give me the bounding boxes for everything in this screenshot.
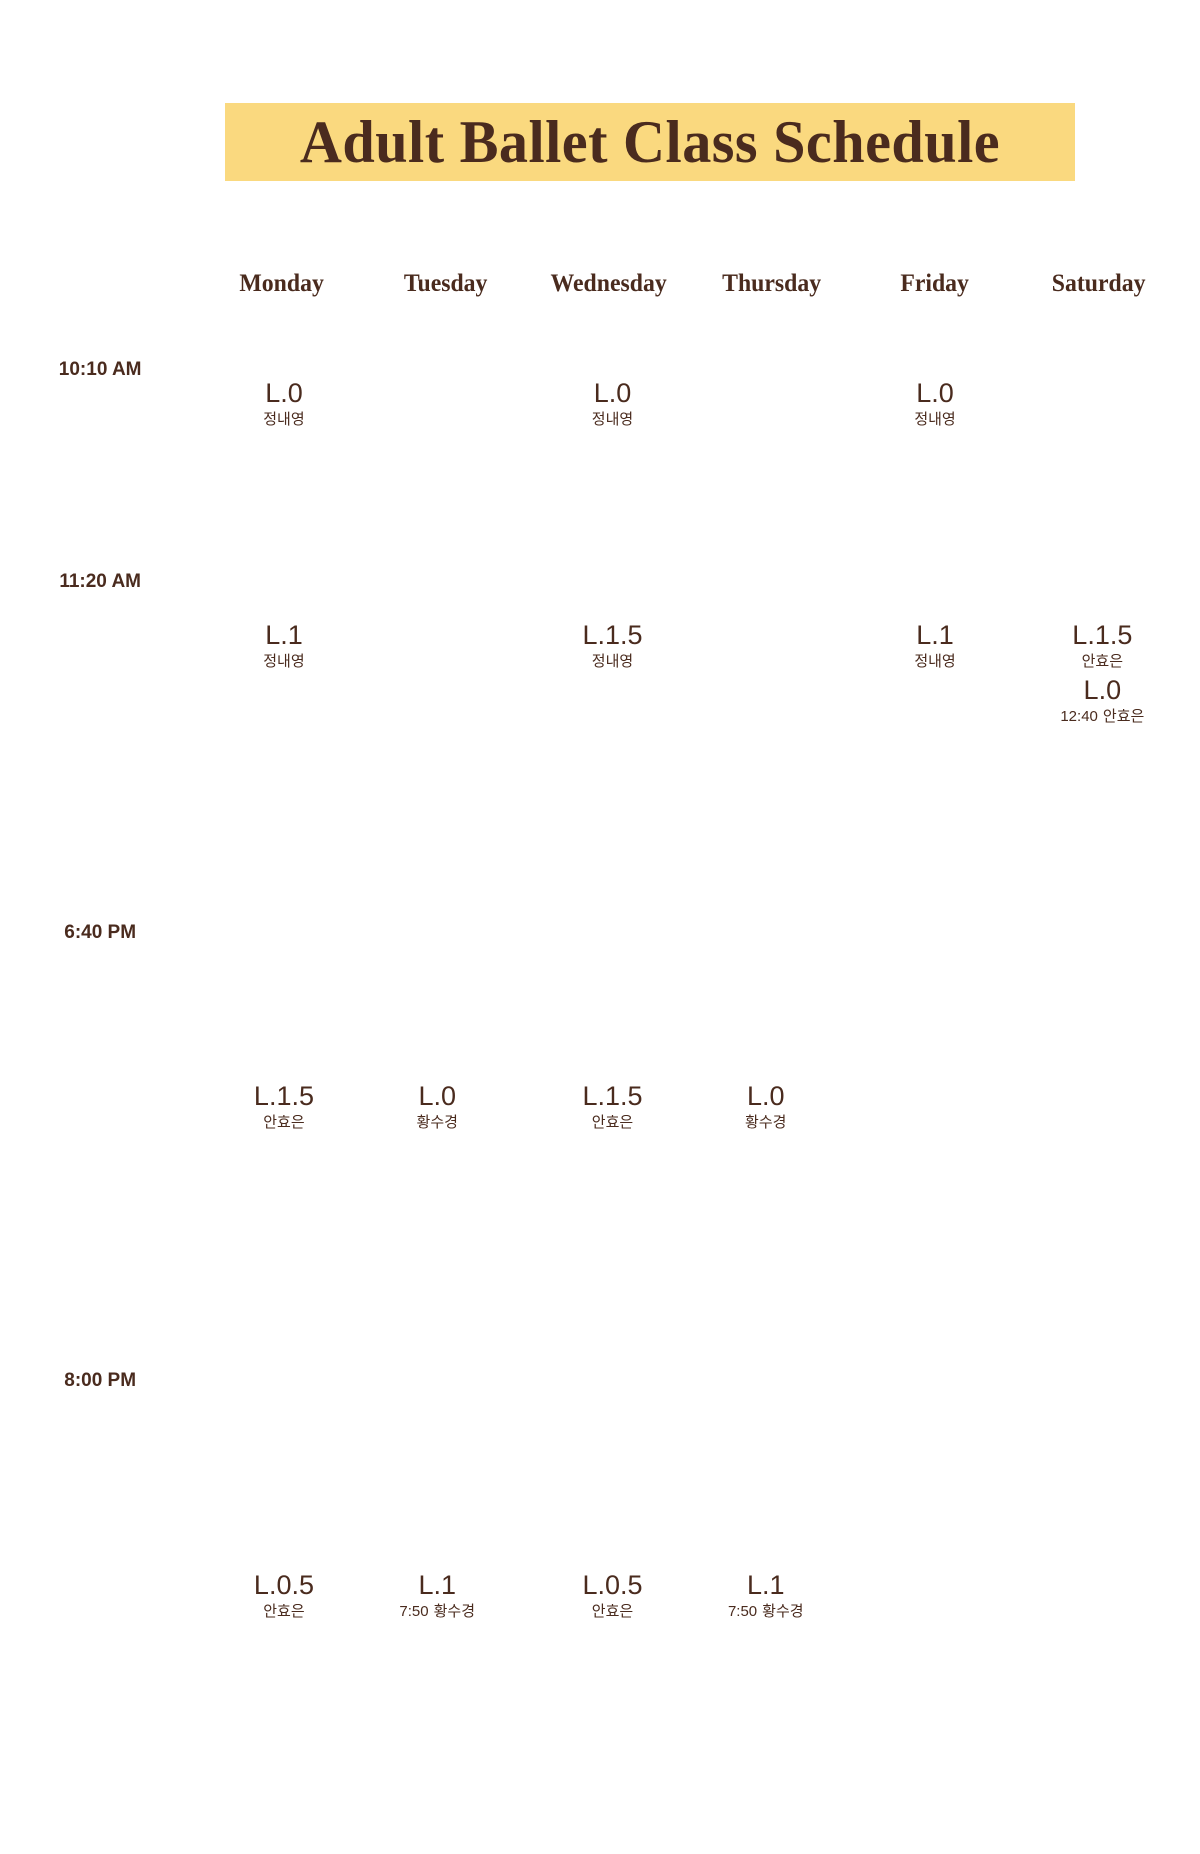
class-meta: 안효은 (202, 1112, 365, 1135)
cell-content: L.17:50황수경 (356, 1136, 519, 1624)
class-instructor: 안효은 (263, 1114, 304, 1131)
class-entry[interactable]: L.0.5안효은 (531, 1570, 694, 1624)
cell-content (1021, 731, 1184, 1081)
schedule-cell: L.1.5황수경 (364, 1626, 527, 1854)
day-header-saturday: Saturday (1021, 270, 1176, 306)
schedule-cell: L.2안효은 (527, 1626, 690, 1854)
cell-content (1021, 1626, 1184, 1854)
time-label: 10:10 AM (0, 306, 200, 434)
day-header-wednesday: Wednesday (531, 270, 686, 306)
class-entry[interactable]: L.17:50황수경 (684, 1570, 847, 1624)
class-instructor: 정내영 (592, 653, 633, 670)
class-level: L.1 (853, 620, 1016, 651)
cell-content: L.1.5안효은L.012:40안효은 (1021, 434, 1184, 729)
day-header-tuesday: Tuesday (368, 270, 523, 306)
cell-content: L.2안효은 (202, 1626, 365, 1854)
cell-content: L.1.5정내영 (531, 434, 694, 674)
class-instructor: 안효은 (592, 1603, 633, 1620)
schedule-cell (853, 731, 1016, 1137)
cell-content: L.2안효은 (531, 1626, 694, 1854)
cell-content: L.17:50황수경 (684, 1136, 847, 1624)
cell-content (1021, 306, 1184, 378)
class-start-time: 12:40 (1060, 708, 1098, 725)
cell-content (853, 1626, 1016, 1854)
time-label: 6:40 PM (0, 731, 200, 1137)
cell-content (356, 434, 519, 620)
schedule-cell: L.0정내영 (527, 306, 690, 434)
schedule-cell: L.1.5안효은 (200, 731, 363, 1137)
class-start-time: 7:50 (399, 1603, 428, 1620)
class-entry[interactable]: L.012:40안효은 (1021, 675, 1184, 729)
schedule-row: 9:10 PML.2안효은L.1.5황수경L.2안효은L.1.5황수경 (0, 1626, 1180, 1854)
cell-content: L.1.5황수경 (684, 1626, 847, 1854)
schedule-body: 10:10 AML.0정내영L.0정내영L.0정내영11:20 AML.1정내영… (0, 306, 1180, 1854)
schedule-cell (690, 306, 853, 434)
class-instructor: 안효은 (1103, 708, 1144, 725)
schedule-row: 10:10 AML.0정내영L.0정내영L.0정내영 (0, 306, 1180, 434)
class-entry[interactable]: L.1.5안효은 (202, 1081, 365, 1135)
cell-content (684, 306, 847, 378)
class-meta: 안효은 (531, 1112, 694, 1135)
class-level: L.0 (853, 378, 1016, 409)
cell-content (356, 306, 519, 378)
schedule-cell (1017, 1136, 1180, 1626)
schedule-cell: L.0황수경 (690, 731, 853, 1137)
class-entry[interactable]: L.1.5정내영 (531, 620, 694, 674)
title-banner: Adult Ballet Class Schedule (225, 103, 1075, 181)
cell-content: L.0.5안효은 (202, 1136, 365, 1624)
class-meta: 황수경 (356, 1112, 519, 1135)
cell-content: L.1정내영 (853, 434, 1016, 674)
class-level: L.1.5 (202, 1081, 365, 1112)
class-level: L.1.5 (1021, 620, 1184, 651)
class-instructor: 황수경 (745, 1114, 786, 1131)
schedule-cell: L.1.5안효은L.012:40안효은 (1017, 434, 1180, 731)
cell-content: L.0황수경 (684, 731, 847, 1135)
class-entry[interactable]: L.0황수경 (684, 1081, 847, 1135)
class-level: L.1 (356, 1570, 519, 1601)
schedule-row: 6:40 PML.1.5안효은L.0황수경L.1.5안효은L.0황수경 (0, 731, 1180, 1137)
class-level: L.0 (531, 378, 694, 409)
class-level: L.1.5 (531, 1081, 694, 1112)
cell-content: L.1.5황수경 (356, 1626, 519, 1854)
schedule-cell: L.1정내영 (200, 434, 363, 731)
class-entry[interactable]: L.1정내영 (853, 620, 1016, 674)
class-level: L.1 (684, 1570, 847, 1601)
time-column-header (0, 270, 200, 306)
class-entry[interactable]: L.1.5안효은 (1021, 620, 1184, 674)
class-meta: 정내영 (853, 409, 1016, 432)
schedule-cell: L.0정내영 (200, 306, 363, 434)
class-meta: 안효은 (202, 1601, 365, 1624)
class-instructor: 황수경 (417, 1114, 458, 1131)
schedule-cell: L.1.5안효은 (527, 731, 690, 1137)
schedule-cell: L.0황수경 (364, 731, 527, 1137)
class-start-time: 7:50 (728, 1603, 757, 1620)
time-label: 8:00 PM (0, 1136, 200, 1626)
class-entry[interactable]: L.0정내영 (202, 378, 365, 432)
cell-content: L.1.5안효은 (202, 731, 365, 1135)
class-instructor: 정내영 (592, 411, 633, 428)
cell-content: L.1정내영 (202, 434, 365, 674)
class-instructor: 정내영 (263, 411, 304, 428)
class-instructor: 안효은 (1082, 653, 1123, 670)
cell-content (853, 731, 1016, 1081)
schedule-cell (690, 434, 853, 731)
cell-content: L.1.5안효은 (531, 731, 694, 1135)
schedule-cell: L.0정내영 (853, 306, 1016, 434)
class-entry[interactable]: L.1정내영 (202, 620, 365, 674)
schedule-head: MondayTuesdayWednesdayThursdayFridaySatu… (0, 270, 1180, 306)
class-instructor: 정내영 (263, 653, 304, 670)
class-meta: 정내영 (202, 409, 365, 432)
schedule-row: 8:00 PML.0.5안효은L.17:50황수경L.0.5안효은L.17:50… (0, 1136, 1180, 1626)
schedule-cell: L.1.5황수경 (690, 1626, 853, 1854)
cell-content: L.0정내영 (853, 306, 1016, 432)
schedule-cell: L.17:50황수경 (690, 1136, 853, 1626)
class-meta: 정내영 (531, 409, 694, 432)
cell-content (684, 434, 847, 620)
class-meta: 정내영 (202, 651, 365, 674)
class-level: L.0 (1021, 675, 1184, 706)
class-entry[interactable]: L.0.5안효은 (202, 1570, 365, 1624)
class-meta: 안효은 (531, 1601, 694, 1624)
schedule-cell (853, 1626, 1016, 1854)
class-instructor: 황수경 (434, 1603, 475, 1620)
class-level: L.0.5 (531, 1570, 694, 1601)
cell-content: L.0정내영 (531, 306, 694, 432)
cell-content (1021, 1136, 1184, 1570)
class-meta: 황수경 (684, 1112, 847, 1135)
class-level: L.0 (356, 1081, 519, 1112)
time-label: 9:10 PM (0, 1626, 200, 1854)
schedule-cell (853, 1136, 1016, 1626)
schedule-cell: L.1정내영 (853, 434, 1016, 731)
time-label: 11:20 AM (0, 434, 200, 731)
class-level: L.1 (202, 620, 365, 651)
class-entry[interactable]: L.0정내영 (853, 378, 1016, 432)
schedule-cell (1017, 306, 1180, 434)
class-meta: 12:40안효은 (1021, 706, 1184, 729)
schedule-cell (1017, 731, 1180, 1137)
class-instructor: 정내영 (914, 653, 955, 670)
schedule-table-wrapper: MondayTuesdayWednesdayThursdayFridaySatu… (0, 270, 1200, 1854)
cell-content (853, 1136, 1016, 1570)
cell-content: L.0.5안효은 (531, 1136, 694, 1624)
class-meta: 안효은 (1021, 651, 1184, 674)
day-header-friday: Friday (857, 270, 1012, 306)
class-entry[interactable]: L.1.5안효은 (531, 1081, 694, 1135)
schedule-cell: L.0.5안효은 (200, 1136, 363, 1626)
schedule-row: 11:20 AML.1정내영L.1.5정내영L.1정내영L.1.5안효은L.01… (0, 434, 1180, 731)
class-meta: 정내영 (853, 651, 1016, 674)
day-header-monday: Monday (204, 270, 359, 306)
class-level: L.1.5 (531, 620, 694, 651)
class-level: L.0.5 (202, 1570, 365, 1601)
page-title: Adult Ballet Class Schedule (300, 112, 1000, 172)
class-level: L.0 (202, 378, 365, 409)
schedule-table: MondayTuesdayWednesdayThursdayFridaySatu… (0, 270, 1180, 1854)
class-meta: 정내영 (531, 651, 694, 674)
schedule-cell (1017, 1626, 1180, 1854)
class-instructor: 황수경 (762, 1603, 803, 1620)
schedule-cell: L.1.5정내영 (527, 434, 690, 731)
schedule-cell: L.17:50황수경 (364, 1136, 527, 1626)
class-meta: 7:50황수경 (356, 1601, 519, 1624)
class-instructor: 정내영 (914, 411, 955, 428)
day-header-row: MondayTuesdayWednesdayThursdayFridaySatu… (0, 270, 1180, 306)
day-header-thursday: Thursday (694, 270, 849, 306)
class-meta: 7:50황수경 (684, 1601, 847, 1624)
class-entry[interactable]: L.0황수경 (356, 1081, 519, 1135)
schedule-cell: L.0.5안효은 (527, 1136, 690, 1626)
cell-content: L.0황수경 (356, 731, 519, 1135)
schedule-cell (364, 306, 527, 434)
class-level: L.0 (684, 1081, 847, 1112)
class-entry[interactable]: L.17:50황수경 (356, 1570, 519, 1624)
class-instructor: 안효은 (592, 1114, 633, 1131)
schedule-cell: L.2안효은 (200, 1626, 363, 1854)
schedule-cell (364, 434, 527, 731)
class-entry[interactable]: L.0정내영 (531, 378, 694, 432)
cell-content: L.0정내영 (202, 306, 365, 432)
class-instructor: 안효은 (263, 1603, 304, 1620)
